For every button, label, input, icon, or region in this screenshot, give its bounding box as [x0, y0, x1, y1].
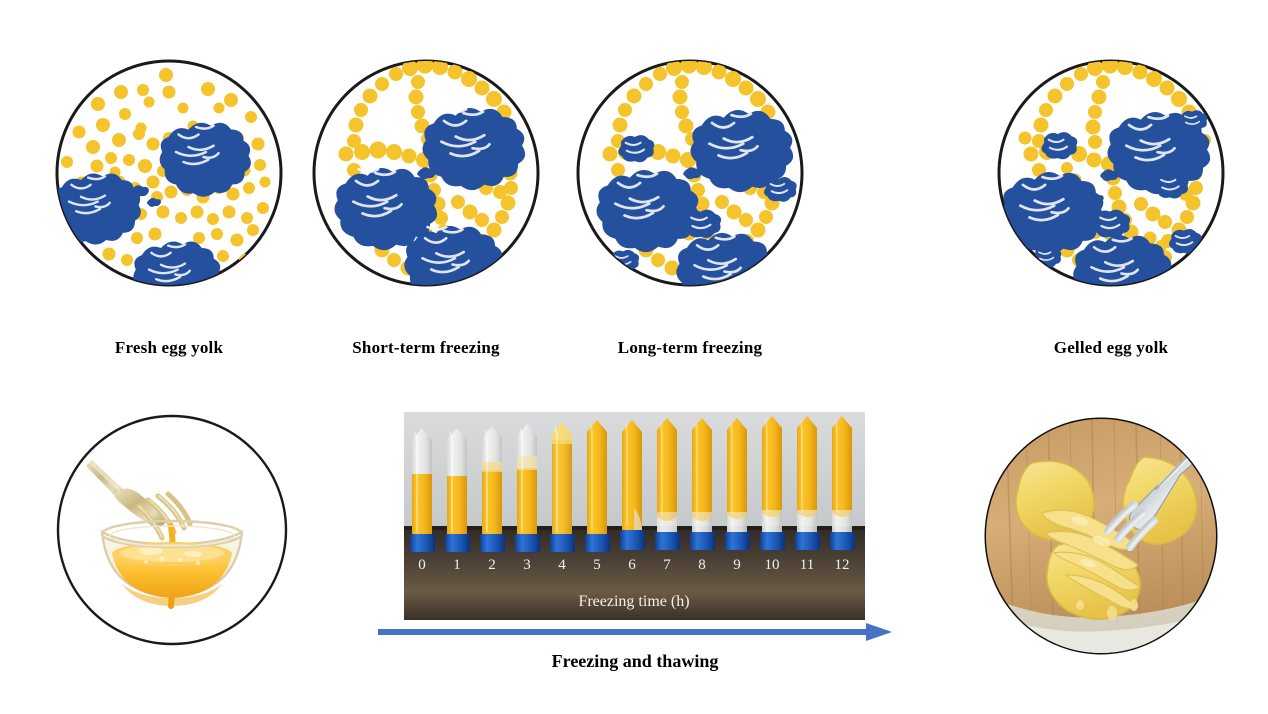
label-fresh-egg-yolk: Fresh egg yolk	[59, 338, 279, 358]
schematic-long-term-freezing	[574, 42, 806, 304]
label-gelled-egg-yolk: Gelled egg yolk	[1001, 338, 1221, 358]
protein-aggregate	[1073, 235, 1172, 304]
svg-text:9: 9	[733, 557, 741, 573]
schematic-gelled-egg-yolk	[995, 42, 1227, 304]
svg-text:11: 11	[800, 557, 814, 573]
freezing-time-caption: Freezing time (h)	[578, 593, 689, 610]
svg-text:0: 0	[418, 557, 426, 573]
photo-gelled-yolk	[984, 417, 1218, 655]
photo-fresh-yolk	[56, 414, 288, 646]
svg-text:7: 7	[663, 557, 671, 573]
svg-text:5: 5	[593, 557, 601, 573]
svg-text:1: 1	[453, 557, 461, 573]
figure-canvas: Fresh egg yolk Short-term freezing Long-…	[0, 0, 1268, 714]
svg-text:12: 12	[835, 557, 850, 573]
process-arrow	[376, 622, 894, 642]
schematic-short-term-freezing	[310, 42, 542, 304]
svg-text:8: 8	[698, 557, 706, 573]
svg-text:10: 10	[765, 557, 780, 573]
protein-aggregate	[404, 226, 503, 304]
schematic-fresh-egg-yolk	[53, 42, 285, 304]
svg-text:3: 3	[523, 557, 531, 573]
protein-aggregate	[676, 233, 775, 304]
svg-text:4: 4	[558, 557, 566, 573]
svg-text:6: 6	[628, 557, 636, 573]
caption-freezing-and-thawing: Freezing and thawing	[385, 651, 885, 672]
svg-text:2: 2	[488, 557, 496, 573]
photo-freezing-time-series: 012 345 678 91011 12 Freezing time (h)	[404, 412, 865, 620]
protein-aggregate	[133, 242, 221, 304]
label-long-term-freezing: Long-term freezing	[580, 338, 800, 358]
label-short-term-freezing: Short-term freezing	[316, 338, 536, 358]
